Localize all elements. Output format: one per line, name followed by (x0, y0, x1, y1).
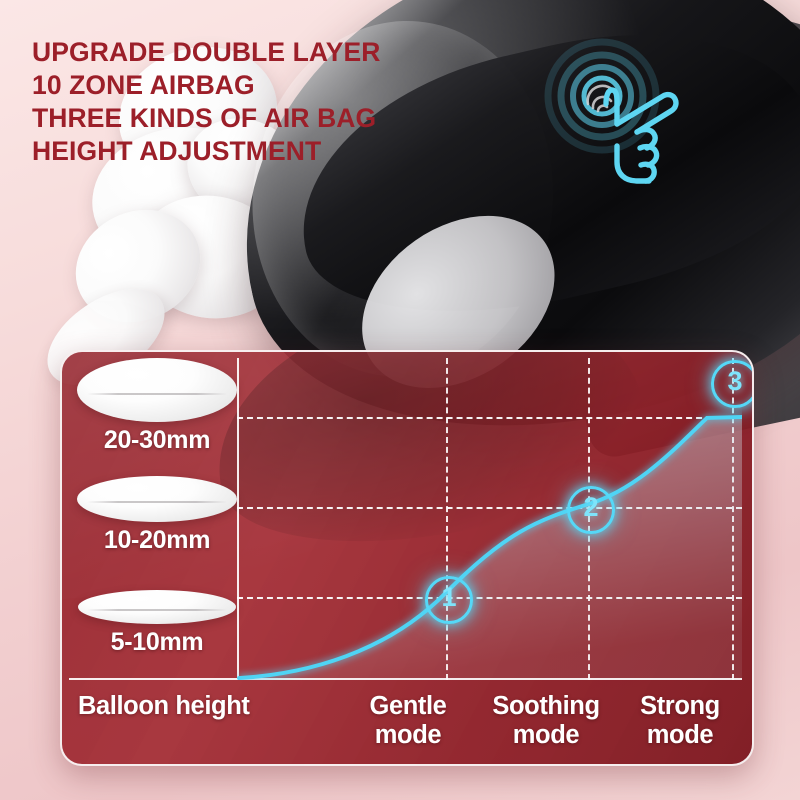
headline-line-3: THREE KINDS OF AIR BAG (32, 102, 552, 135)
x-label-gentle-line2: mode (348, 721, 468, 750)
legend-label: 20-30mm (72, 426, 242, 455)
legend-row: 5-10mm (72, 590, 242, 657)
touch-gesture-icon (540, 34, 710, 204)
x-label-gentle: Gentle mode (348, 692, 468, 750)
marker-2: 2 (567, 486, 615, 534)
plot-area: 1 2 3 (237, 358, 742, 680)
x-label-gentle-line1: Gentle (348, 692, 468, 721)
legend-row: 20-30mm (72, 358, 242, 455)
x-label-strong-line1: Strong (618, 692, 742, 721)
marker-1: 1 (425, 576, 473, 624)
curve-container (237, 358, 742, 680)
x-axis-labels: Balloon height Gentle mode Soothing mode… (62, 684, 752, 760)
x-label-soothing-line1: Soothing (476, 692, 616, 721)
axis-title-balloon-height: Balloon height (78, 692, 308, 721)
headline-line-2: 10 ZONE AIRBAG (32, 69, 552, 102)
page-title: UPGRADE DOUBLE LAYER 10 ZONE AIRBAG THRE… (32, 36, 552, 168)
x-label-soothing-line2: mode (476, 721, 616, 750)
balloon-height-chart-panel: 20-30mm 10-20mm 5-10mm (60, 350, 754, 766)
marker-3: 3 (711, 360, 754, 408)
headline-line-1: UPGRADE DOUBLE LAYER (32, 36, 552, 69)
product-marketing-image: UPGRADE DOUBLE LAYER 10 ZONE AIRBAG THRE… (0, 0, 800, 800)
balloon-small-icon (78, 590, 236, 624)
x-label-strong-line2: mode (618, 721, 742, 750)
balloon-large-icon (77, 358, 237, 422)
x-label-strong: Strong mode (618, 692, 742, 750)
legend-label: 10-20mm (72, 526, 242, 555)
legend-label: 5-10mm (72, 628, 242, 657)
x-label-soothing: Soothing mode (476, 692, 616, 750)
balloon-medium-icon (77, 476, 237, 522)
legend-row: 10-20mm (72, 476, 242, 555)
headline-line-4: HEIGHT ADJUSTMENT (32, 135, 552, 168)
